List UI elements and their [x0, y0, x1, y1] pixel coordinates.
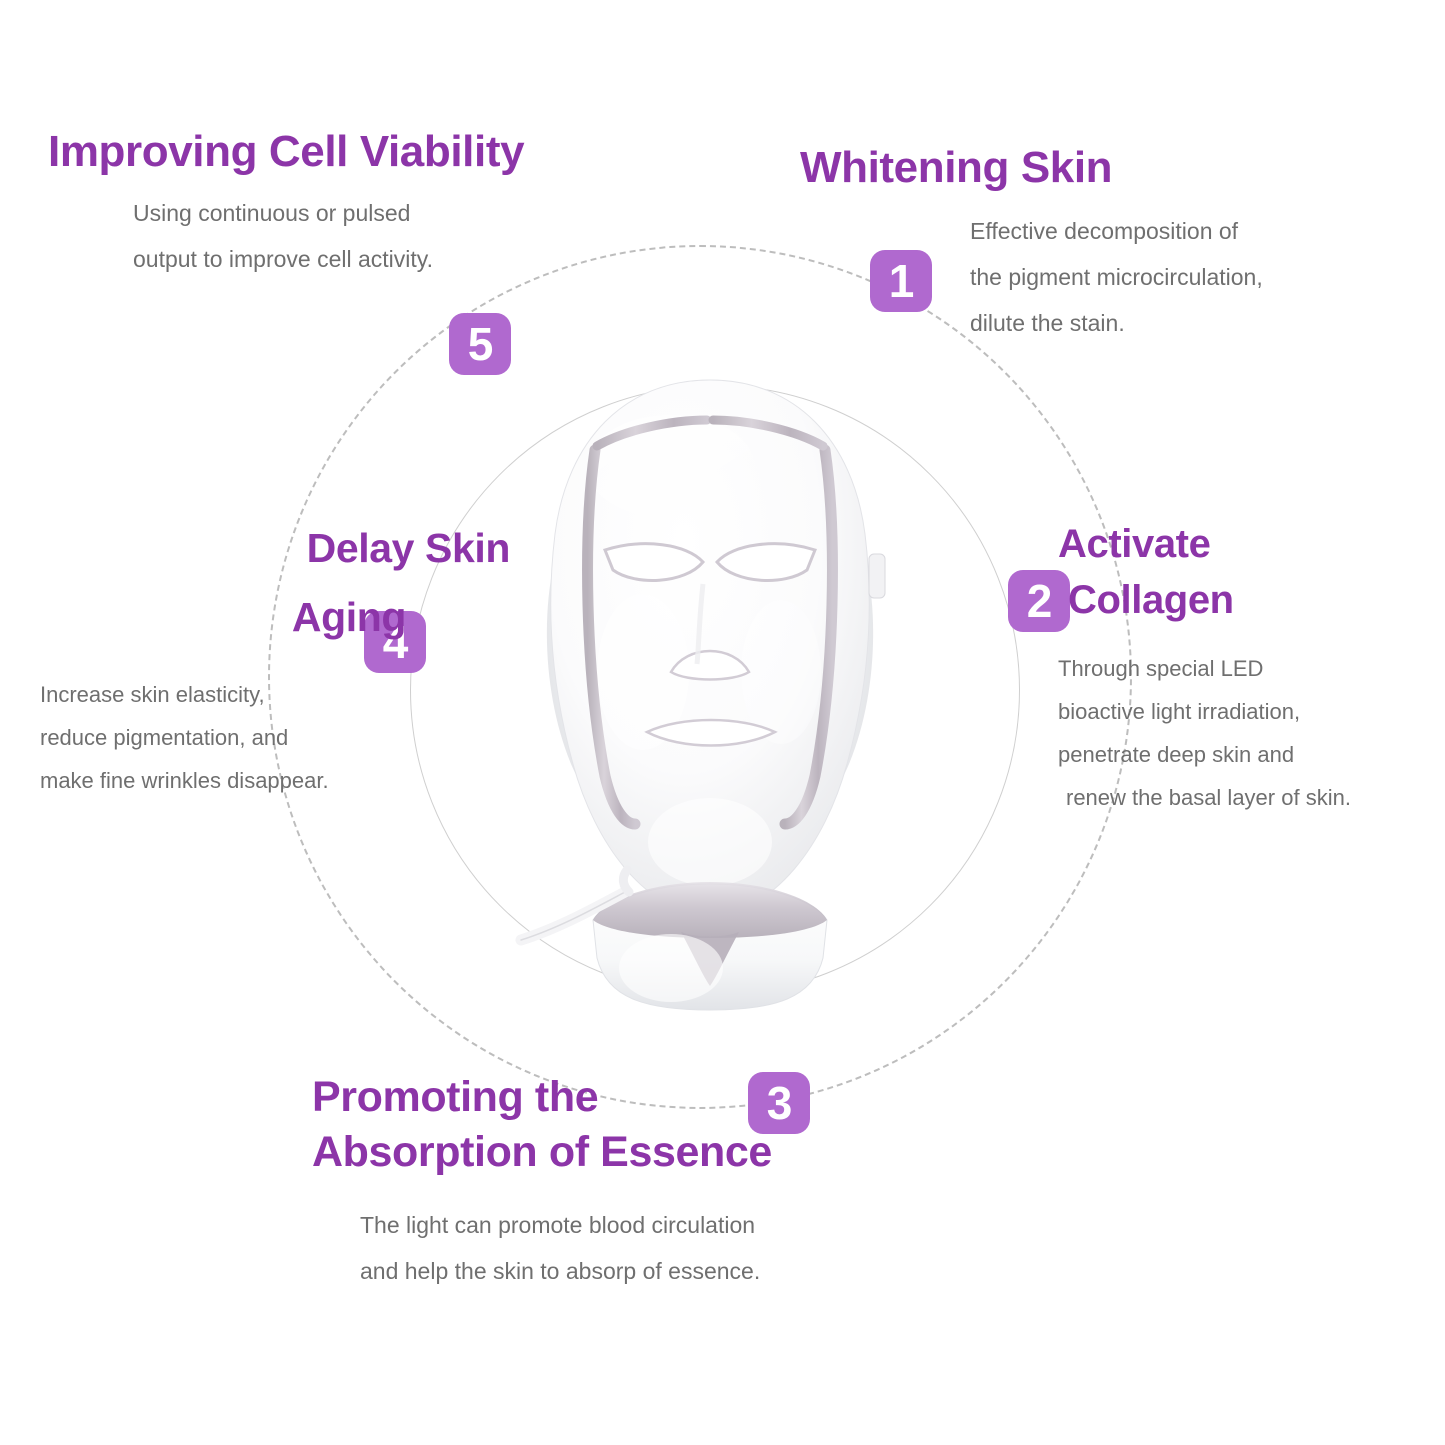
feature-title-3-line-1: Promoting the: [312, 1070, 972, 1125]
feature-body-5-line-2: output to improve cell activity.: [133, 236, 748, 282]
feature-body-2-line-4: renew the basal layer of skin.: [1058, 777, 1445, 820]
feature-body-1-line-3: dilute the stain.: [970, 300, 1420, 346]
feature-body-5: Using continuous or pulsed output to imp…: [48, 190, 748, 282]
feature-title-1: Whitening Skin: [800, 142, 1420, 194]
feature-title-2-line-1: Activate: [1058, 522, 1210, 566]
feature-block-whitening-skin: Whitening Skin Effective decomposition o…: [800, 142, 1420, 346]
infographic-canvas: 1 2 3 4 5 Improving Cell Viability Using…: [0, 0, 1445, 1445]
neck-highlight: [619, 934, 723, 1002]
product-image-led-mask: [475, 372, 945, 1012]
feature-body-3-line-1: The light can promote blood circulation: [360, 1202, 972, 1248]
feature-body-2-line-2: bioactive light irradiation,: [1058, 691, 1445, 734]
feature-title-2-line-2: Collagen: [1068, 572, 1445, 628]
feature-body-3: The light can promote blood circulation …: [312, 1202, 972, 1294]
feature-body-4-line-1: Increase skin elasticity,: [40, 674, 510, 717]
chin-highlight: [648, 798, 772, 886]
feature-body-4: Increase skin elasticity, reduce pigment…: [40, 674, 510, 803]
feature-title-4-line-2: Aging: [40, 597, 510, 638]
feature-block-promoting-absorption-of-essence: Promoting the Absorption of Essence The …: [312, 1070, 972, 1294]
feature-body-5-line-1: Using continuous or pulsed: [133, 190, 748, 236]
feature-block-improving-cell-viability: Improving Cell Viability Using continuou…: [48, 126, 748, 282]
feature-block-delay-skin-aging: Delay Skin Aging Increase skin elasticit…: [40, 528, 510, 803]
feature-body-4-line-3: make fine wrinkles disappear.: [40, 760, 510, 803]
feature-title-4: Delay Skin Aging: [40, 528, 510, 638]
feature-body-2: Through special LED bioactive light irra…: [1058, 648, 1445, 820]
feature-title-5: Improving Cell Viability: [48, 126, 748, 178]
feature-body-1-line-2: the pigment microcirculation,: [970, 254, 1420, 300]
feature-body-2-line-1: Through special LED: [1058, 648, 1445, 691]
forehead-highlight: [587, 415, 755, 519]
side-button: [869, 554, 885, 598]
feature-body-4-line-2: reduce pigmentation, and: [40, 717, 510, 760]
feature-title-4-line-1: Delay Skin: [40, 528, 510, 569]
right-cheek-highlight: [741, 600, 821, 744]
feature-body-3-line-2: and help the skin to absorp of essence.: [360, 1248, 972, 1294]
feature-title-3-line-2: Absorption of Essence: [312, 1125, 972, 1180]
feature-body-1-line-1: Effective decomposition of: [970, 208, 1420, 254]
feature-body-1: Effective decomposition of the pigment m…: [800, 208, 1420, 346]
feature-title-3: Promoting the Absorption of Essence: [312, 1070, 972, 1180]
feature-body-2-line-3: penetrate deep skin and: [1058, 734, 1445, 777]
feature-block-activate-collagen: Activate Collagen Through special LED bi…: [1058, 516, 1445, 820]
feature-title-2: Activate Collagen: [1058, 516, 1445, 628]
cable-joint: [623, 870, 629, 892]
badge-number-5[interactable]: 5: [449, 313, 511, 375]
